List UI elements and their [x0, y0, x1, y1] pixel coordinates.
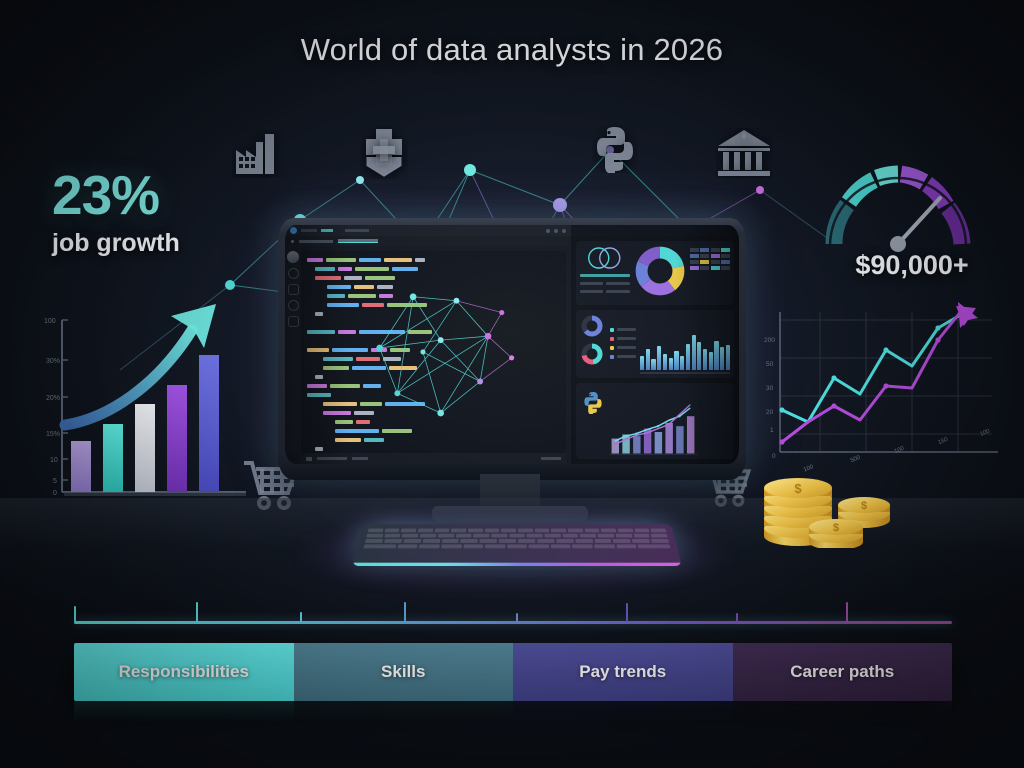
timeline-tick — [300, 612, 302, 622]
keyboard-keys[interactable] — [363, 529, 670, 549]
curved-monitor — [278, 218, 746, 480]
svg-text:5: 5 — [53, 478, 57, 485]
editor-activity-bar[interactable] — [285, 246, 301, 453]
bank-building-icon — [716, 128, 772, 178]
keyboard-glow-strip — [352, 563, 682, 566]
status-text — [317, 457, 347, 460]
svg-text:20: 20 — [766, 409, 774, 416]
editor-tabstrip[interactable] — [285, 236, 571, 246]
salary-stat: $90,000+ — [812, 250, 1012, 281]
svg-text:200: 200 — [764, 337, 775, 344]
job-growth-value: 23% — [52, 168, 272, 223]
dashboard-heatmap — [690, 245, 730, 301]
svg-text:100: 100 — [44, 318, 56, 325]
svg-text:$: $ — [861, 500, 867, 512]
gold-coin-stacks: $ $ $ — [756, 448, 896, 548]
folder-icon[interactable] — [288, 284, 299, 295]
window-maximize-icon[interactable] — [554, 229, 558, 233]
avatar[interactable] — [287, 251, 299, 263]
window-minimize-icon[interactable] — [546, 229, 550, 233]
svg-text:15%: 15% — [46, 431, 60, 438]
svg-text:100: 100 — [979, 428, 991, 438]
window-close-icon[interactable] — [562, 229, 566, 233]
svg-text:50: 50 — [766, 361, 774, 368]
backlit-keyboard[interactable] — [352, 512, 682, 566]
svg-text:20%: 20% — [46, 395, 60, 402]
tab-bar-reflection — [74, 701, 952, 723]
timeline-rail[interactable] — [74, 621, 952, 624]
dashboard-gauge-1 — [580, 314, 604, 338]
editor-titlebar — [285, 225, 571, 236]
dashboard-bar-card[interactable] — [576, 310, 734, 378]
svg-text:10: 10 — [50, 457, 58, 464]
magnifier-icon[interactable] — [288, 300, 299, 311]
monitor-screen — [285, 225, 739, 464]
tab-label: Pay trends — [579, 662, 666, 682]
svg-text:1: 1 — [770, 427, 774, 434]
svg-text:$: $ — [833, 522, 839, 534]
code-editor-pane[interactable] — [285, 225, 571, 464]
medical-cross-icon — [360, 125, 408, 179]
dashboard-gauge-2 — [580, 342, 604, 366]
svg-text:160: 160 — [937, 437, 949, 447]
dashboard-donut-chart — [634, 245, 686, 297]
editor-tab[interactable] — [299, 240, 333, 243]
timeline[interactable] — [74, 598, 952, 632]
status-icon — [306, 457, 312, 461]
timeline-tick — [516, 613, 518, 622]
svg-text:$: $ — [794, 481, 802, 496]
svg-text:0: 0 — [53, 490, 57, 497]
job-growth-bar-chart: 10030%20% 15%1050 — [40, 300, 260, 505]
editor-tab-active[interactable] — [338, 239, 378, 243]
salary-gauge — [818, 158, 978, 254]
status-text — [541, 457, 561, 460]
svg-text:30%: 30% — [46, 358, 60, 365]
analytics-dashboard-pane[interactable] — [571, 236, 739, 464]
dashboard-mini-bar-chart — [640, 330, 730, 370]
timeline-tick — [404, 602, 406, 622]
tab-label: Responsibilities — [119, 662, 249, 682]
venn-diagram-icon — [580, 245, 629, 271]
tab-label: Skills — [381, 662, 425, 682]
tab-skills[interactable]: Skills — [294, 643, 514, 701]
tab-bar[interactable]: Responsibilities Skills Pay trends Caree… — [74, 643, 952, 701]
job-growth-stat: 23% job growth — [52, 168, 272, 258]
timeline-tick — [196, 602, 198, 622]
editor-menu-item[interactable] — [321, 229, 333, 232]
file-icon — [291, 240, 294, 243]
monitor-bezel — [278, 218, 746, 480]
python-logo-icon — [592, 125, 638, 173]
infographic-canvas: World of data analysts in 2026 — [0, 0, 1024, 768]
tab-responsibilities[interactable]: Responsibilities — [74, 643, 294, 701]
svg-text:30: 30 — [766, 385, 774, 392]
editor-code-area[interactable] — [301, 251, 566, 453]
page-title: World of data analysts in 2026 — [0, 32, 1024, 68]
search-icon[interactable] — [288, 268, 299, 279]
tab-career-paths[interactable]: Career paths — [733, 643, 953, 701]
timeline-tick — [736, 613, 738, 622]
editor-logo-icon — [290, 227, 297, 234]
status-text — [352, 457, 368, 460]
tab-pay-trends[interactable]: Pay trends — [513, 643, 733, 701]
mail-icon[interactable] — [288, 316, 299, 327]
job-growth-label: job growth — [52, 229, 272, 258]
timeline-tick — [74, 606, 76, 622]
keyboard-body[interactable] — [352, 524, 682, 566]
tab-label: Career paths — [790, 662, 894, 682]
dashboard-donut-card[interactable] — [576, 241, 734, 305]
timeline-tick — [846, 602, 848, 622]
editor-menu-item[interactable] — [301, 229, 317, 232]
dashboard-combo-card[interactable] — [576, 383, 734, 459]
dashboard-lower-combo-chart — [578, 398, 730, 456]
timeline-tick — [626, 603, 628, 622]
editor-statusbar — [301, 453, 566, 464]
editor-menu-item[interactable] — [345, 229, 369, 232]
